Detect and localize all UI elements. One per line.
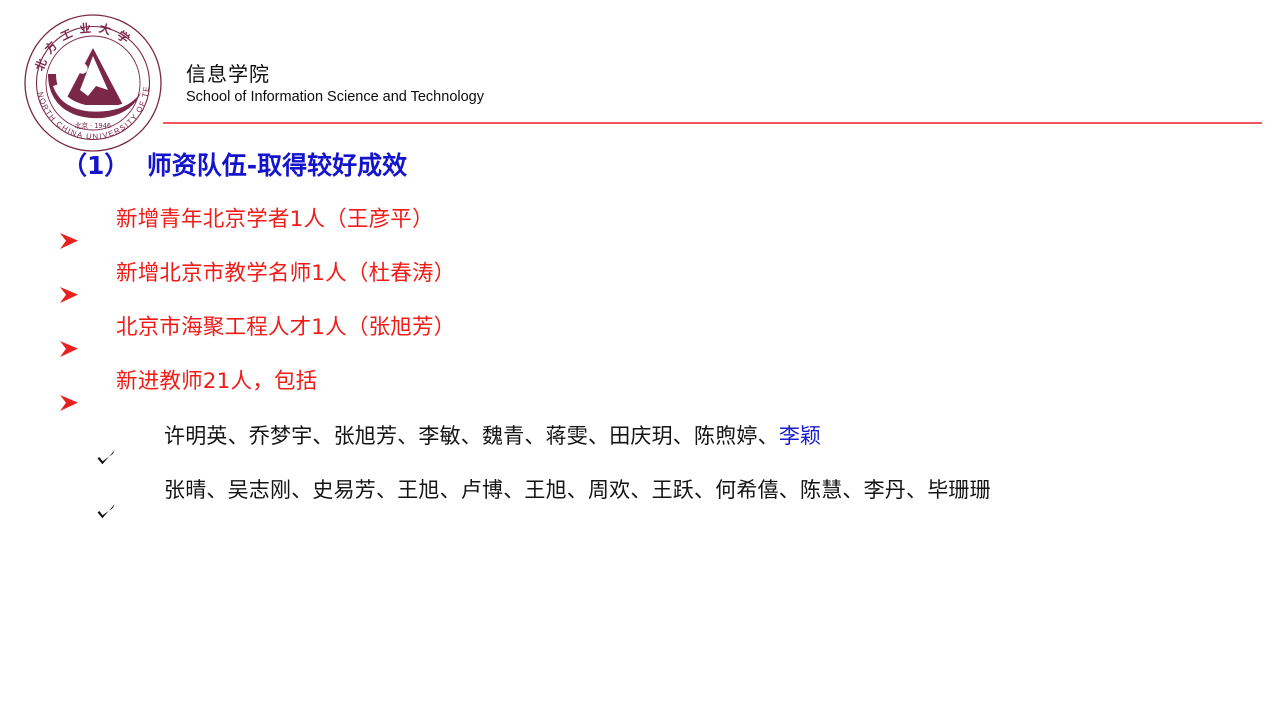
bullet-item-4: 新进教师21人，包括 [58,367,317,397]
school-name-cn: 信息学院 [186,62,484,86]
sub-item-2-names: 张晴、吴志刚、史易芳、王旭、卢博、王旭、周欢、王跃、何希僖、陈慧、李丹、毕珊珊 [164,478,991,502]
school-identity: 信息学院 School of Information Science and T… [186,62,484,107]
bullet-item-1-label: 新增青年北京学者1人（王彦平） [116,205,434,235]
bullet-item-2-label: 新增北京市教学名师1人（杜春涛） [116,259,455,289]
bullet-item-4-label: 新进教师21人，包括 [116,367,317,397]
sub-item-2-label: 张晴、吴志刚、史易芳、王旭、卢博、王旭、周欢、王跃、何希僖、陈慧、李丹、毕珊珊 [164,475,991,505]
sub-item-1-names: 许明英、乔梦宇、张旭芳、李敏、魏青、蒋雯、田庆玥、陈煦婷、 [164,424,779,448]
slide-header: 北方工业大学 NORTH CHINA UNIVERSITY OF TECHNOL… [0,0,1280,140]
bullet-item-3: 北京市海聚工程人才1人（张旭芳） [58,313,455,343]
sub-item-1-label: 许明英、乔梦宇、张旭芳、李敏、魏青、蒋雯、田庆玥、陈煦婷、李颖 [164,421,821,451]
page-title: （1） 师资队伍-取得较好成效 [62,148,407,184]
sub-item-1-highlight-name: 李颖 [779,424,821,448]
sub-item-1: 许明英、乔梦宇、张旭芳、李敏、魏青、蒋雯、田庆玥、陈煦婷、李颖 [96,421,821,451]
bullet-item-2: 新增北京市教学名师1人（杜春涛） [58,259,455,289]
bullet-item-1: 新增青年北京学者1人（王彦平） [58,205,434,235]
slide-canvas: 北方工业大学 NORTH CHINA UNIVERSITY OF TECHNOL… [0,0,1280,720]
header-divider [163,122,1262,124]
bullet-item-3-label: 北京市海聚工程人才1人（张旭芳） [116,313,455,343]
svg-text:北京 · 1946: 北京 · 1946 [75,121,111,130]
sub-item-2: 张晴、吴志刚、史易芳、王旭、卢博、王旭、周欢、王跃、何希僖、陈慧、李丹、毕珊珊 [96,475,991,505]
university-seal-logo: 北方工业大学 NORTH CHINA UNIVERSITY OF TECHNOL… [22,12,164,154]
school-name-en: School of Information Science and Techno… [186,88,484,107]
